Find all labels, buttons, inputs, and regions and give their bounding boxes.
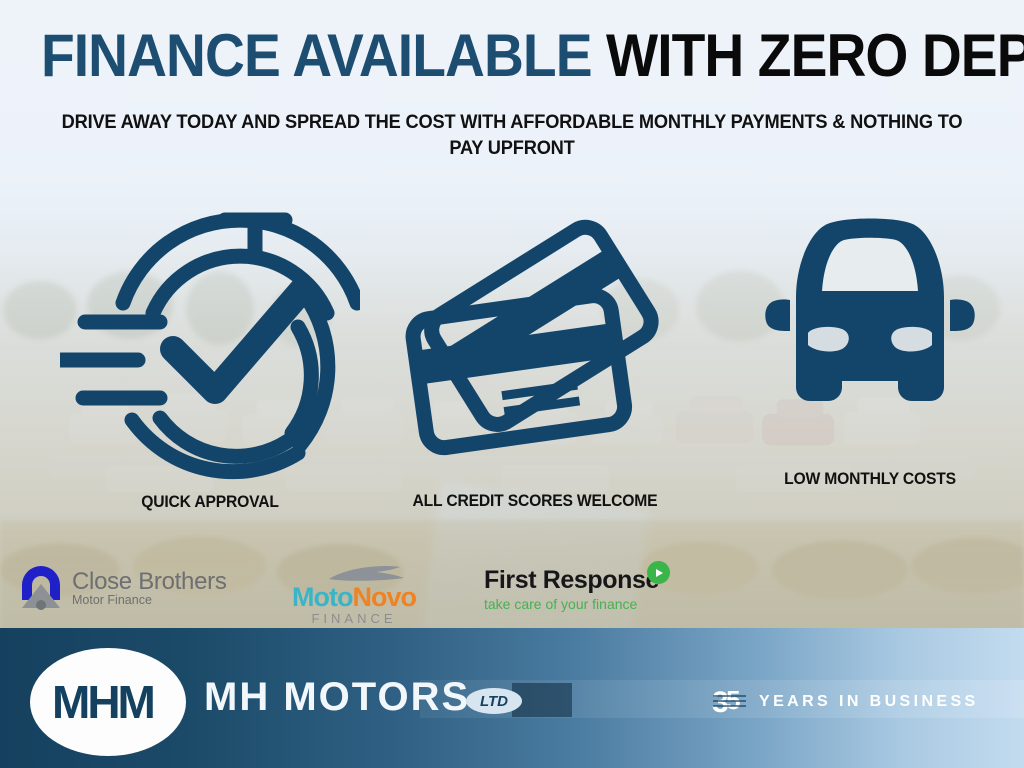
feature-all-credit-scores-welcome: ALL CREDIT SCORES WELCOME: [380, 205, 690, 511]
partner-name: First Response: [484, 566, 659, 595]
car-front-icon: [720, 205, 1020, 440]
years-number-icon: 3 5: [712, 687, 754, 717]
feature-quick-approval: QUICK APPROVAL: [30, 205, 390, 512]
feature-low-monthly-costs: LOW MONTHLY COSTS: [720, 205, 1020, 489]
partner-name: MotoNovo: [292, 582, 416, 613]
close-brothers-mark-icon: [18, 564, 64, 612]
years-in-business: 3 5 YEARS IN BUSINESS: [712, 687, 979, 717]
headline-part-finance-available: FINANCE AVAILABLE: [41, 22, 606, 89]
feature-caption: LOW MONTHLY COSTS: [728, 470, 1013, 489]
subheadline: DRIVE AWAY TODAY AND SPREAD THE COST WIT…: [44, 110, 981, 162]
ltd-badge: LTD: [466, 688, 522, 714]
mhm-logo-badge: MHM: [30, 648, 186, 756]
headline: FINANCE AVAILABLE WITH ZERO DEPOSIT: [41, 26, 983, 86]
first-response-play-icon: [647, 561, 670, 584]
finance-promo-poster: FINANCE AVAILABLE WITH ZERO DEPOSIT DRIV…: [0, 0, 1024, 768]
stopwatch-check-icon: [30, 205, 390, 485]
credit-cards-icon: [380, 205, 690, 478]
company-name: MH MOTORS: [204, 675, 470, 720]
headline-part-with-zero-deposit: WITH ZERO DEPOSIT: [606, 22, 1024, 89]
feature-caption: ALL CREDIT SCORES WELCOME: [388, 492, 683, 511]
motonovo-car-swoosh-icon: [326, 564, 412, 584]
partner-close-brothers: Close Brothers Motor Finance: [18, 564, 227, 612]
mhm-monogram: MHM: [52, 679, 164, 725]
ltd-badge-text: LTD: [480, 693, 508, 710]
feature-caption: QUICK APPROVAL: [39, 493, 381, 512]
finance-partner-logos: Close Brothers Motor Finance MotoNovo FI…: [0, 552, 1024, 632]
partner-first-response: First Response take care of your finance: [484, 566, 659, 612]
partner-tagline: Motor Finance: [72, 594, 227, 607]
partner-tagline: FINANCE: [292, 611, 416, 626]
mhm-monogram-text: MHM: [52, 676, 153, 728]
partner-tagline: take care of your finance: [484, 596, 659, 612]
partner-name: Close Brothers: [72, 569, 227, 594]
partner-motonovo: MotoNovo FINANCE: [292, 564, 416, 626]
years-label: YEARS IN BUSINESS: [759, 693, 979, 711]
